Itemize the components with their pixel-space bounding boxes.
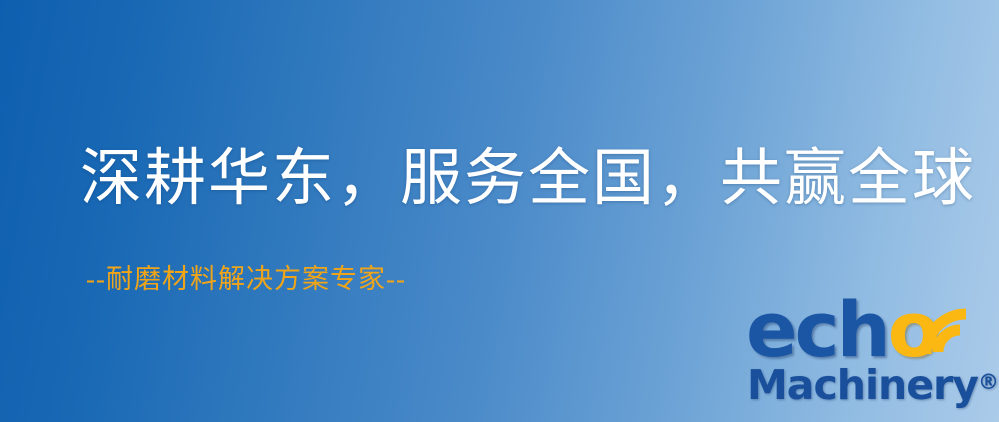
banner-subtitle: --耐磨材料解决方案专家--	[86, 266, 406, 293]
company-logo: echo Machinery®	[744, 292, 996, 418]
promo-banner: 深耕华东，服务全国，共赢全球 --耐磨材料解决方案专家-- echo Machi…	[0, 0, 999, 422]
logo-wordmark: echo	[746, 292, 937, 368]
logo-text-machinery: Machinery	[747, 361, 978, 409]
signal-waves-icon	[916, 290, 986, 362]
banner-headline: 深耕华东，服务全国，共赢全球	[80, 148, 976, 210]
logo-brand-line: Machinery®	[747, 365, 999, 406]
registered-trademark-icon: ®	[978, 370, 999, 394]
